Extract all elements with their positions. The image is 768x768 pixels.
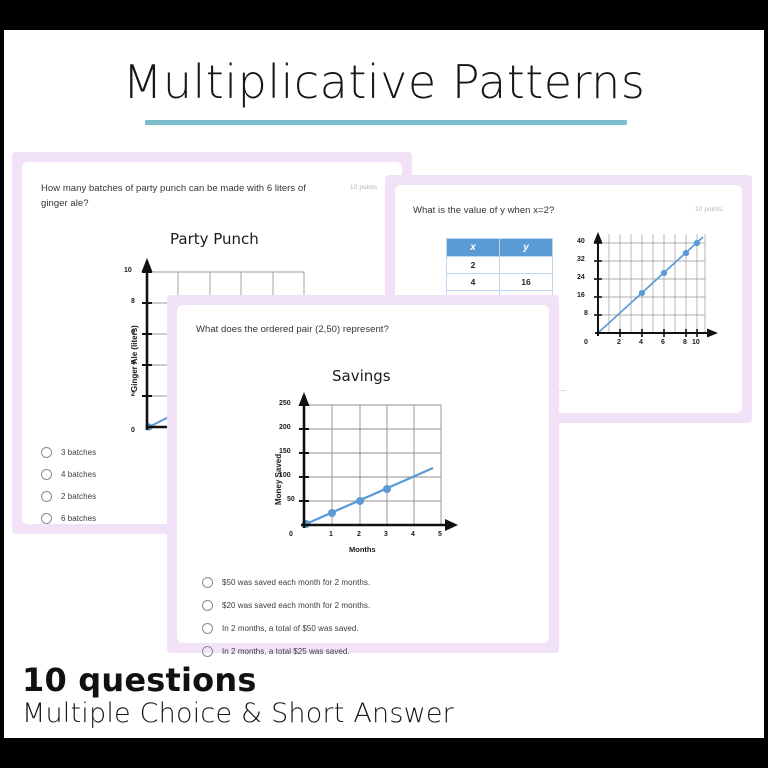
ytick-xy-24: 24 xyxy=(577,274,585,281)
question-text-table: What is the value of y when x=2? xyxy=(413,204,643,219)
radio-icon[interactable] xyxy=(202,623,213,634)
xtick-savings-5: 5 xyxy=(438,531,442,538)
option-row[interactable]: 2 batches xyxy=(41,491,96,502)
table-row: 4 16 xyxy=(447,274,553,291)
ytick-xy-16: 16 xyxy=(577,292,585,299)
ytick-savings-100: 100 xyxy=(279,472,291,479)
option-label: 3 batches xyxy=(61,448,96,457)
chart-xlabel-savings: Months xyxy=(349,545,376,554)
option-row[interactable]: In 2 months, a total of $50 was saved. xyxy=(202,623,359,634)
radio-icon[interactable] xyxy=(202,646,213,657)
option-row[interactable]: $50 was saved each month for 2 months. xyxy=(202,577,370,588)
ytick-party-punch-10: 10 xyxy=(124,267,132,274)
page-title: Multiplicative Patterns xyxy=(4,58,764,106)
xtick-savings-3: 3 xyxy=(384,531,388,538)
option-label: 6 batches xyxy=(61,514,96,523)
radio-icon[interactable] xyxy=(202,600,213,611)
card-savings: What does the ordered pair (2,50) repres… xyxy=(167,295,559,653)
poster-canvas: Multiplicative Patterns How many batches… xyxy=(4,30,764,738)
ytick-xy-40: 40 xyxy=(577,238,585,245)
table-cell-y: 16 xyxy=(500,274,553,291)
savings-plot xyxy=(177,305,549,643)
card-savings-body: What does the ordered pair (2,50) repres… xyxy=(177,305,549,643)
poster-root: Multiplicative Patterns How many batches… xyxy=(0,0,768,768)
table-cell-x: 2 xyxy=(447,257,500,274)
table-header-y: y xyxy=(500,239,553,257)
option-row[interactable]: In 2 months, a total $25 was saved. xyxy=(202,646,350,657)
option-row[interactable]: $20 was saved each month for 2 months. xyxy=(202,600,370,611)
xtick-xy-0: 0 xyxy=(584,339,588,346)
radio-icon[interactable] xyxy=(41,447,52,458)
xtick-xy-4: 4 xyxy=(639,339,643,346)
savings-chart: Savings Money Saved xyxy=(177,305,549,643)
title-underline xyxy=(145,120,627,125)
xtick-xy-10: 10 xyxy=(692,339,700,346)
table-cell-y xyxy=(500,257,553,274)
xtick-savings-2: 2 xyxy=(357,531,361,538)
option-label: 2 batches xyxy=(61,492,96,501)
option-label: $50 was saved each month for 2 months. xyxy=(222,578,370,587)
ytick-party-punch-2: 2 xyxy=(131,391,135,398)
option-label: 4 batches xyxy=(61,470,96,479)
page-title-text: Multiplicative Patterns xyxy=(4,58,764,106)
option-label: $20 was saved each month for 2 months. xyxy=(222,601,370,610)
option-row[interactable]: 4 batches xyxy=(41,469,96,480)
ytick-xy-32: 32 xyxy=(577,256,585,263)
option-label: In 2 months, a total $25 was saved. xyxy=(222,647,350,656)
points-label-table: 10 points xyxy=(695,206,722,213)
xtick-savings-1: 1 xyxy=(329,531,333,538)
xtick-savings-0: 0 xyxy=(289,531,293,538)
ytick-party-punch-8: 8 xyxy=(131,298,135,305)
ytick-savings-250: 250 xyxy=(279,400,291,407)
xtick-xy-8: 8 xyxy=(683,339,687,346)
option-row[interactable]: 3 batches xyxy=(41,447,96,458)
footer-question-count: 10 questions xyxy=(22,664,454,698)
xtick-savings-4: 4 xyxy=(411,531,415,538)
radio-icon[interactable] xyxy=(41,513,52,524)
xtick-xy-2: 2 xyxy=(617,339,621,346)
ytick-xy-8: 8 xyxy=(584,310,588,317)
ytick-savings-50: 50 xyxy=(287,496,295,503)
table-cell-x: 4 xyxy=(447,274,500,291)
table-row: 2 xyxy=(447,257,553,274)
footer: 10 questions Multiple Choice & Short Ans… xyxy=(22,664,454,728)
ytick-savings-150: 150 xyxy=(279,448,291,455)
radio-icon[interactable] xyxy=(202,577,213,588)
ytick-savings-200: 200 xyxy=(279,424,291,431)
ytick-party-punch-4: 4 xyxy=(131,360,135,367)
table-header-row: x y xyxy=(447,239,553,257)
table-header-x: x xyxy=(447,239,500,257)
xtick-xy-6: 6 xyxy=(661,339,665,346)
radio-icon[interactable] xyxy=(41,469,52,480)
xy-chart: 40 32 24 16 8 0 2 4 6 8 10 xyxy=(573,229,733,364)
ytick-party-punch-6: 6 xyxy=(131,329,135,336)
footer-question-types: Multiple Choice & Short Answer xyxy=(22,699,454,729)
option-row[interactable]: 6 batches xyxy=(41,513,96,524)
option-label: In 2 months, a total of $50 was saved. xyxy=(222,624,359,633)
radio-icon[interactable] xyxy=(41,491,52,502)
ytick-party-punch-0: 0 xyxy=(131,427,135,434)
xy-plot xyxy=(573,229,733,364)
